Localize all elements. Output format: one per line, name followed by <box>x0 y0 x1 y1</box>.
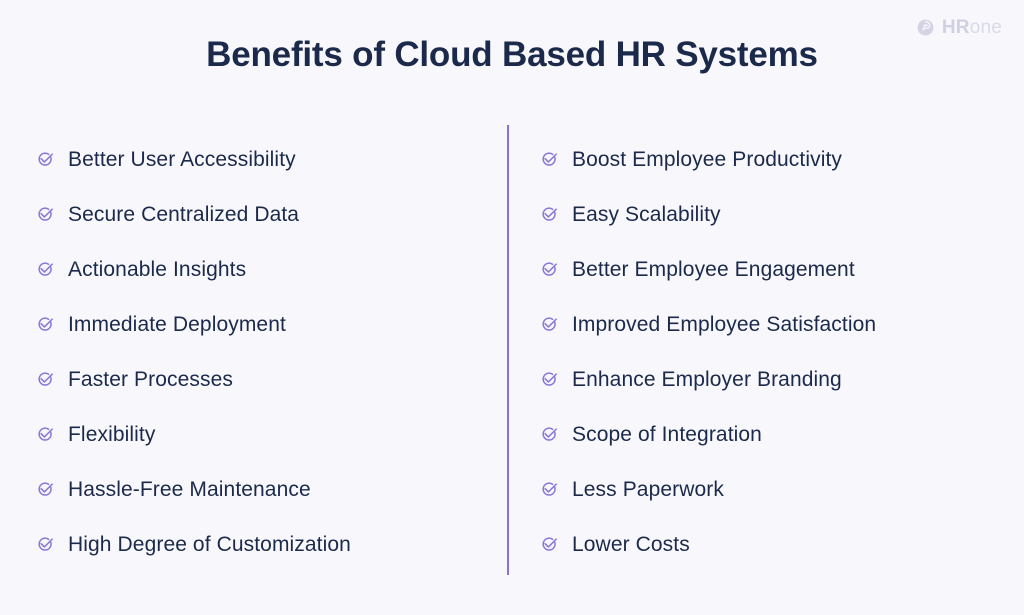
list-item: Faster Processes <box>36 352 491 407</box>
check-circle-icon <box>36 535 55 554</box>
check-circle-icon <box>540 315 559 334</box>
check-circle-icon <box>540 150 559 169</box>
check-circle-icon <box>540 535 559 554</box>
list-item: Less Paperwork <box>540 462 1010 517</box>
check-circle-icon <box>36 425 55 444</box>
list-item-label: Lower Costs <box>572 532 690 557</box>
list-item: Flexibility <box>36 407 491 462</box>
list-item: Boost Employee Productivity <box>540 132 1010 187</box>
benefits-right-column: Boost Employee Productivity Easy Scalabi… <box>540 132 1010 572</box>
benefits-columns: Better User Accessibility Secure Central… <box>0 132 1024 582</box>
list-item: Secure Centralized Data <box>36 187 491 242</box>
check-circle-icon <box>540 205 559 224</box>
list-item-label: High Degree of Customization <box>68 532 351 557</box>
column-divider <box>507 125 509 575</box>
list-item-label: Actionable Insights <box>68 257 246 282</box>
list-item: Improved Employee Satisfaction <box>540 297 1010 352</box>
check-circle-icon <box>36 480 55 499</box>
list-item: Scope of Integration <box>540 407 1010 462</box>
check-circle-icon <box>36 370 55 389</box>
check-circle-icon <box>36 150 55 169</box>
check-circle-icon <box>36 205 55 224</box>
list-item-label: Flexibility <box>68 422 155 447</box>
check-circle-icon <box>36 315 55 334</box>
benefits-left-column: Better User Accessibility Secure Central… <box>36 132 491 572</box>
list-item-label: Better Employee Engagement <box>572 257 855 282</box>
list-item: Lower Costs <box>540 517 1010 572</box>
list-item-label: Scope of Integration <box>572 422 762 447</box>
list-item-label: Enhance Employer Branding <box>572 367 842 392</box>
list-item: Easy Scalability <box>540 187 1010 242</box>
list-item: High Degree of Customization <box>36 517 491 572</box>
page-title: Benefits of Cloud Based HR Systems <box>0 34 1024 76</box>
list-item: Better User Accessibility <box>36 132 491 187</box>
list-item: Actionable Insights <box>36 242 491 297</box>
check-circle-icon <box>540 480 559 499</box>
check-circle-icon <box>540 425 559 444</box>
list-item-label: Boost Employee Productivity <box>572 147 842 172</box>
list-item: Better Employee Engagement <box>540 242 1010 297</box>
list-item-label: Improved Employee Satisfaction <box>572 312 876 337</box>
list-item-label: Faster Processes <box>68 367 233 392</box>
list-item-label: Easy Scalability <box>572 202 721 227</box>
list-item: Hassle-Free Maintenance <box>36 462 491 517</box>
check-circle-icon <box>540 260 559 279</box>
list-item-label: Better User Accessibility <box>68 147 296 172</box>
list-item: Enhance Employer Branding <box>540 352 1010 407</box>
list-item: Immediate Deployment <box>36 297 491 352</box>
list-item-label: Immediate Deployment <box>68 312 286 337</box>
list-item-label: Less Paperwork <box>572 477 724 502</box>
check-circle-icon <box>540 370 559 389</box>
list-item-label: Secure Centralized Data <box>68 202 299 227</box>
list-item-label: Hassle-Free Maintenance <box>68 477 311 502</box>
check-circle-icon <box>36 260 55 279</box>
